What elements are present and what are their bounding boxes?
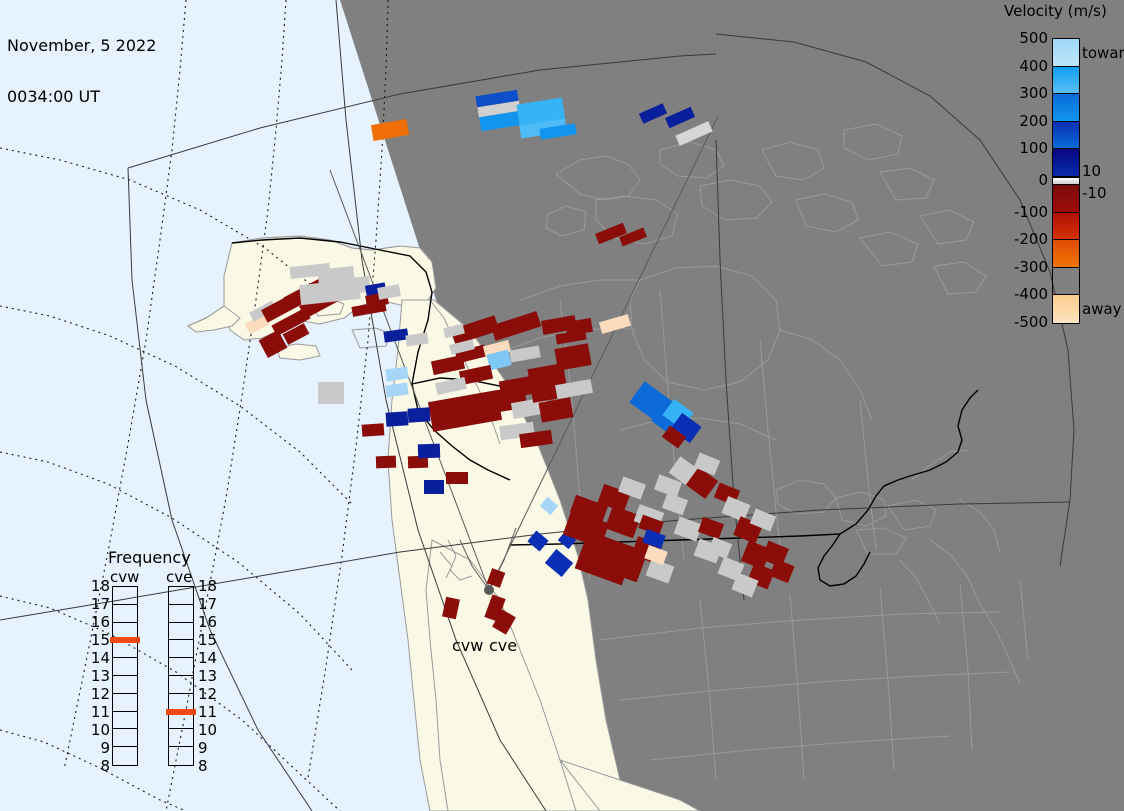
- velocity-cell: [424, 480, 444, 494]
- frequency-cell: [113, 676, 137, 694]
- frequency-label-cvw-14: 14: [86, 651, 110, 666]
- superdarn-fan-plot: November, 5 2022 0034:00 UT Velocity (m/…: [0, 0, 1124, 811]
- velocity-cell: [376, 456, 396, 469]
- frequency-label-cvw-15: 15: [86, 633, 110, 648]
- colorbar-tick-labels: 5004003002001000-100-200-300-400-500: [1000, 0, 1048, 340]
- timestamp-time: 0034:00 UT: [7, 88, 156, 105]
- frequency-label-cve-8: 8: [198, 759, 222, 774]
- frequency-cell: [169, 623, 193, 641]
- colorbar-negative-threshold-label: -10: [1082, 186, 1107, 201]
- frequency-label-cve-16: 16: [198, 615, 222, 630]
- timestamp: November, 5 2022 0034:00 UT: [7, 3, 156, 139]
- velocity-cell: [408, 407, 431, 423]
- colorbar-gradient: [1052, 38, 1080, 324]
- frequency-cell: [113, 587, 137, 605]
- frequency-column-name-cvw: cvw: [110, 568, 139, 586]
- velocity-cell: [318, 382, 344, 404]
- frequency-cell: [113, 640, 137, 658]
- frequency-legend-title: Frequency: [108, 548, 191, 567]
- frequency-cell: [169, 640, 193, 658]
- colorbar-band: [1053, 39, 1079, 67]
- frequency-box-cve: [168, 586, 194, 766]
- frequency-label-cvw-9: 9: [86, 741, 110, 756]
- velocity-cell: [386, 411, 409, 427]
- frequency-cell: [113, 605, 137, 623]
- frequency-column-name-cve: cve: [166, 568, 192, 586]
- velocity-colorbar: Velocity (m/s) 5004003002001000-100-200-…: [1000, 0, 1124, 340]
- frequency-cell: [113, 694, 137, 712]
- frequency-cell: [169, 605, 193, 623]
- colorbar-band: [1053, 177, 1079, 185]
- frequency-label-cvw-18: 18: [86, 579, 110, 594]
- frequency-cell: [169, 658, 193, 676]
- frequency-cell: [113, 747, 137, 765]
- colorbar-tick-neg300: -300: [1014, 260, 1048, 275]
- colorbar-tick-neg200: -200: [1014, 232, 1048, 247]
- frequency-label-cve-13: 13: [198, 669, 222, 684]
- colorbar-positive-threshold-label: 10: [1082, 164, 1101, 179]
- colorbar-toward-label: toward: [1082, 46, 1124, 61]
- frequency-label-cve-14: 14: [198, 651, 222, 666]
- frequency-label-cvw-8: 8: [86, 759, 110, 774]
- colorbar-tick-neg500: -500: [1014, 315, 1048, 330]
- frequency-label-cvw-17: 17: [86, 597, 110, 612]
- colorbar-tick-400: 400: [1019, 59, 1048, 74]
- radar-site-label-cve: cve: [489, 636, 517, 655]
- frequency-cell: [113, 658, 137, 676]
- colorbar-band: [1053, 213, 1079, 241]
- frequency-labels-cve: 18171615141312111098: [198, 586, 222, 766]
- velocity-cell: [362, 423, 385, 437]
- frequency-marker-cve: [166, 709, 196, 715]
- frequency-cell: [113, 712, 137, 730]
- colorbar-tick-neg100: -100: [1014, 205, 1048, 220]
- frequency-label-cvw-10: 10: [86, 723, 110, 738]
- frequency-label-cvw-13: 13: [86, 669, 110, 684]
- colorbar-band: [1053, 122, 1079, 150]
- timestamp-date: November, 5 2022: [7, 37, 156, 54]
- colorbar-band: [1053, 295, 1079, 323]
- frequency-label-cvw-12: 12: [86, 687, 110, 702]
- frequency-label-cve-15: 15: [198, 633, 222, 648]
- colorbar-band: [1053, 67, 1079, 95]
- frequency-cell: [113, 729, 137, 747]
- velocity-cell: [418, 444, 440, 459]
- colorbar-band: [1053, 185, 1079, 213]
- frequency-cell: [169, 676, 193, 694]
- colorbar-band: [1053, 149, 1079, 177]
- radar-site-label-cvw: cvw: [452, 636, 483, 655]
- frequency-marker-cvw: [110, 637, 140, 643]
- frequency-box-cvw: [112, 586, 138, 766]
- colorbar-band: [1053, 268, 1079, 296]
- colorbar-tick-500: 500: [1019, 31, 1048, 46]
- colorbar-tick-100: 100: [1019, 141, 1048, 156]
- frequency-label-cve-18: 18: [198, 579, 222, 594]
- radar-site-marker: [484, 585, 494, 595]
- colorbar-tick-200: 200: [1019, 114, 1048, 129]
- colorbar-tick-300: 300: [1019, 86, 1048, 101]
- colorbar-side-labels: toward10-10away: [1082, 0, 1124, 340]
- colorbar-away-label: away: [1082, 302, 1122, 317]
- frequency-label-cvw-16: 16: [86, 615, 110, 630]
- frequency-legend: Frequency cvw18171615141312111098cve1817…: [86, 548, 236, 778]
- frequency-cell: [169, 729, 193, 747]
- frequency-label-cve-17: 17: [198, 597, 222, 612]
- colorbar-band: [1053, 94, 1079, 122]
- frequency-label-cve-10: 10: [198, 723, 222, 738]
- frequency-cell: [169, 747, 193, 765]
- frequency-label-cve-11: 11: [198, 705, 222, 720]
- frequency-label-cve-9: 9: [198, 741, 222, 756]
- colorbar-band: [1053, 240, 1079, 268]
- colorbar-tick-neg400: -400: [1014, 287, 1048, 302]
- frequency-label-cve-12: 12: [198, 687, 222, 702]
- frequency-cell: [169, 587, 193, 605]
- colorbar-tick-0: 0: [1038, 173, 1048, 188]
- velocity-cell: [446, 472, 468, 484]
- frequency-label-cvw-11: 11: [86, 705, 110, 720]
- frequency-labels-cvw: 18171615141312111098: [86, 586, 110, 766]
